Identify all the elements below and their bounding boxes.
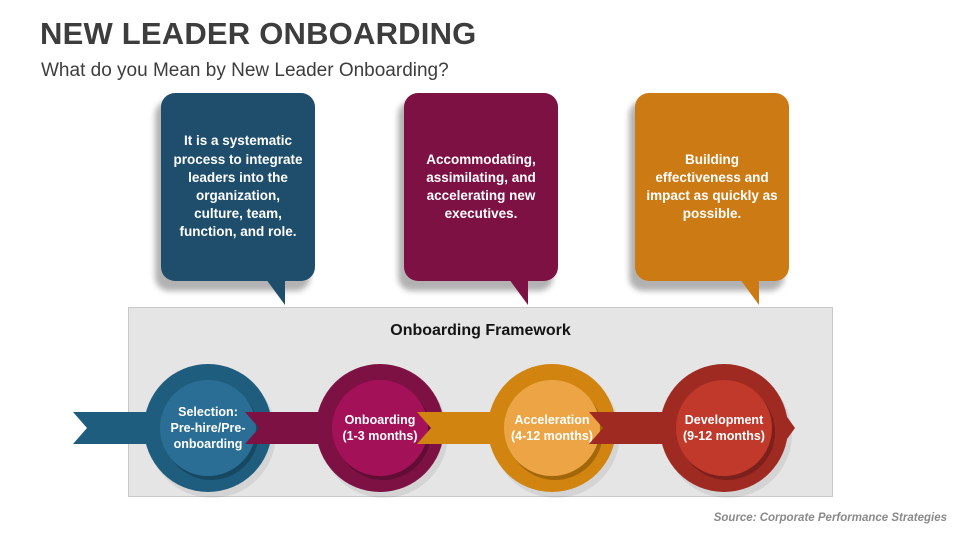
definition-bubble-1: It is a systematic process to integrate … (155, 93, 315, 303)
process-step-development[interactable]: Development (9-12 months) (659, 363, 789, 493)
definition-bubble-3: Building effectiveness and impact as qui… (629, 93, 789, 303)
page-subtitle: What do you Mean by New Leader Onboardin… (41, 60, 449, 82)
bubble-body: Accommodating, assimilating, and acceler… (404, 93, 558, 281)
definition-bubble-2: Accommodating, assimilating, and acceler… (398, 93, 558, 303)
process-step-selection[interactable]: Selection: Pre-hire/Pre- onboarding (143, 363, 273, 493)
bubble-text: Building effectiveness and impact as qui… (646, 151, 778, 224)
process-step-acceleration[interactable]: Acceleration (4-12 months) (487, 363, 617, 493)
bubble-tail-icon (263, 275, 285, 305)
bubble-text: Accommodating, assimilating, and acceler… (415, 151, 547, 224)
page-title: NEW LEADER ONBOARDING (40, 16, 476, 52)
step-ring-arrow-icon (623, 363, 825, 493)
bubble-text: It is a systematic process to integrate … (172, 132, 304, 241)
source-note: Source: Corporate Performance Strategies (714, 512, 947, 524)
process-chain: Selection: Pre-hire/Pre- onboarding Onbo… (129, 363, 834, 493)
bubble-tail-icon (737, 275, 759, 305)
bubble-body: It is a systematic process to integrate … (161, 93, 315, 281)
process-step-onboarding[interactable]: Onboarding (1-3 months) (315, 363, 445, 493)
framework-title: Onboarding Framework (129, 322, 832, 340)
onboarding-framework-panel: Onboarding Framework Selection: Pre-hire… (128, 307, 833, 497)
bubble-body: Building effectiveness and impact as qui… (635, 93, 789, 281)
bubble-tail-icon (506, 275, 528, 305)
